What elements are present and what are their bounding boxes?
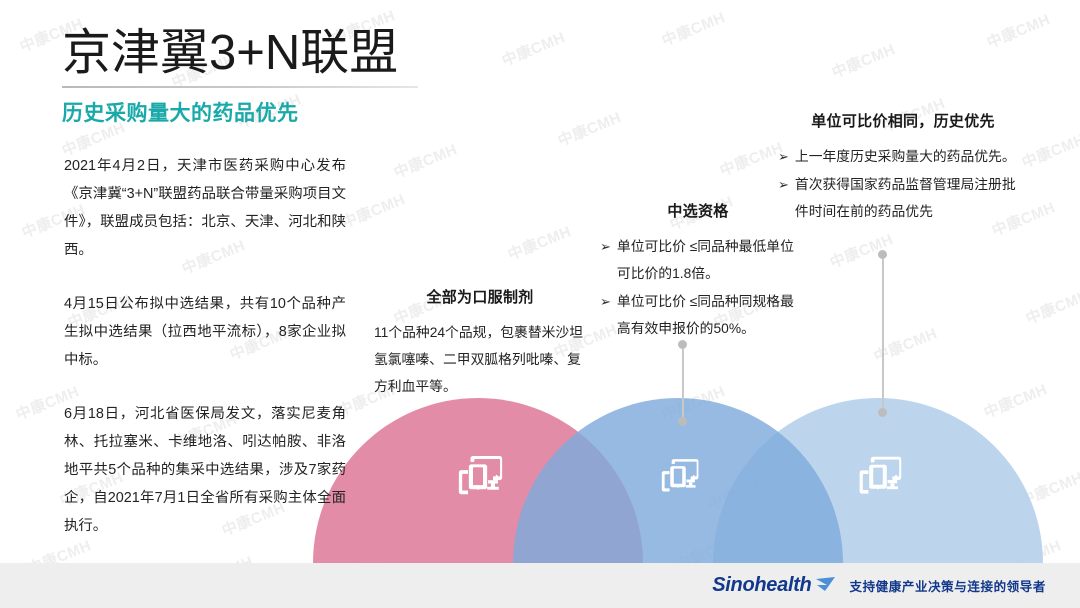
list-item: ➢ 首次获得国家药品监督管理局注册批件时间在前的药品优先 — [778, 171, 1028, 225]
left-text-column: 2021年4月2日，天津市医药采购中心发布《京津冀“3+N”联盟药品联合带量采购… — [64, 152, 346, 540]
connector-stem — [882, 259, 884, 408]
watermark-text: 中康CMH — [864, 498, 934, 542]
watermark-text: 中康CMH — [496, 412, 566, 456]
callout-body: ➢ 单位可比价 ≤同品种最低单位可比价的1.8倍。 ➢ 单位可比价 ≤同品种同规… — [600, 233, 796, 342]
list-item-label: 首次获得国家药品监督管理局注册批件时间在前的药品优先 — [795, 171, 1028, 225]
paragraph-2: 4月15日公布拟中选结果，共有10个品种产生拟中选结果（拉西地平流标），8家企业… — [64, 290, 346, 374]
footer-brand-group: Sinohealth 支持健康产业决策与连接的领导者 — [712, 574, 1046, 597]
callout-body: ➢ 上一年度历史采购量大的药品优先。 ➢ 首次获得国家药品监督管理局注册批件时间… — [778, 143, 1028, 225]
watermark-text: 中康CMH — [828, 38, 898, 82]
sinohealth-logo-text: Sinohealth — [712, 574, 811, 597]
watermark-text: 中康CMH — [504, 220, 574, 264]
watermark-text: 中康CMH — [1016, 466, 1080, 510]
callout-oral-formulations: 全部为口服制剂 11个品种24个品规，包裹替米沙坦氢氯噻嗪、二甲双胍格列吡嗪、复… — [374, 286, 586, 400]
watermark-text: 中康CMH — [542, 500, 612, 544]
watermark-text: 中康CMH — [658, 380, 728, 424]
list-item-label: 单位可比价 ≤同品种同规格最高有效申报价的50%。 — [617, 288, 796, 342]
connector-stem — [682, 349, 684, 417]
watermark-text: 中康CMH — [1022, 284, 1080, 328]
callout-title: 全部为口服制剂 — [374, 286, 586, 307]
watermark-text: 中康CMH — [716, 136, 786, 180]
paragraph-1: 2021年4月2日，天津市医药采购中心发布《京津冀“3+N”联盟药品联合带量采购… — [64, 152, 346, 264]
callout-title: 中选资格 — [600, 200, 796, 221]
footer-bar: Sinohealth 支持健康产业决策与连接的领导者 — [0, 563, 1080, 608]
list-item-label: 单位可比价 ≤同品种最低单位可比价的1.8倍。 — [617, 233, 796, 287]
connector-dot-bottom — [678, 417, 687, 426]
list-item: ➢ 单位可比价 ≤同品种同规格最高有效申报价的50%。 — [600, 288, 796, 342]
devices-icon-3 — [860, 457, 902, 494]
chevron-bullet-icon: ➢ — [600, 233, 611, 260]
footer-tagline: 支持健康产业决策与连接的领导者 — [849, 576, 1046, 595]
list-item-label: 上一年度历史采购量大的药品优先。 — [795, 143, 1028, 170]
devices-icon-2 — [662, 459, 699, 491]
watermark-text: 中康CMH — [498, 26, 568, 70]
watermark-text: 中康CMH — [983, 8, 1053, 52]
connector-line-2 — [678, 340, 687, 426]
list-item: ➢ 单位可比价 ≤同品种最低单位可比价的1.8倍。 — [600, 233, 796, 287]
watermark-text: 中康CMH — [818, 414, 888, 458]
page-title: 京津翼3+N联盟 — [62, 26, 442, 81]
watermark-text: 中康CMH — [390, 138, 460, 182]
chevron-bullet-icon: ➢ — [600, 288, 611, 315]
devices-icon-1 — [459, 456, 502, 494]
chevron-bullet-icon: ➢ — [778, 171, 789, 198]
page-subtitle: 历史采购量大的药品优先 — [62, 97, 442, 127]
watermark-text: 中康CMH — [704, 470, 774, 514]
callout-body: 11个品种24个品规，包裹替米沙坦氢氯噻嗪、二甲双胍格列吡嗪、复方利血平等。 — [374, 319, 586, 400]
chevron-bullet-icon: ➢ — [778, 143, 789, 170]
connector-dot-top — [878, 250, 887, 259]
paragraph-3: 6月18日，河北省医保局发文，落实尼麦角林、托拉塞米、卡维地洛、吲达帕胺、非洛地… — [64, 400, 346, 540]
watermark-text: 中康CMH — [658, 6, 728, 50]
watermark-text: 中康CMH — [554, 106, 624, 150]
callout-selection-criteria: 中选资格 ➢ 单位可比价 ≤同品种最低单位可比价的1.8倍。 ➢ 单位可比价 ≤… — [600, 200, 796, 343]
title-block: 京津翼3+N联盟 历史采购量大的药品优先 — [62, 26, 442, 127]
connector-dot-bottom — [878, 408, 887, 417]
watermark-text: 中康CMH — [380, 468, 450, 512]
connector-line-3 — [878, 250, 887, 417]
list-item: ➢ 上一年度历史采购量大的药品优先。 — [778, 143, 1028, 170]
slide-root: 中康CMH中康CMH中康CMH中康CMH中康CMH中康CMH中康CMH中康CMH… — [0, 0, 1080, 608]
title-divider — [62, 86, 418, 88]
callout-title: 单位可比价相同，历史优先 — [778, 110, 1028, 131]
watermark-text: 中康CMH — [338, 188, 408, 232]
arrow-check-icon — [814, 576, 836, 596]
watermark-text: 中康CMH — [980, 378, 1050, 422]
callout-history-priority: 单位可比价相同，历史优先 ➢ 上一年度历史采购量大的药品优先。 ➢ 首次获得国家… — [778, 110, 1028, 226]
